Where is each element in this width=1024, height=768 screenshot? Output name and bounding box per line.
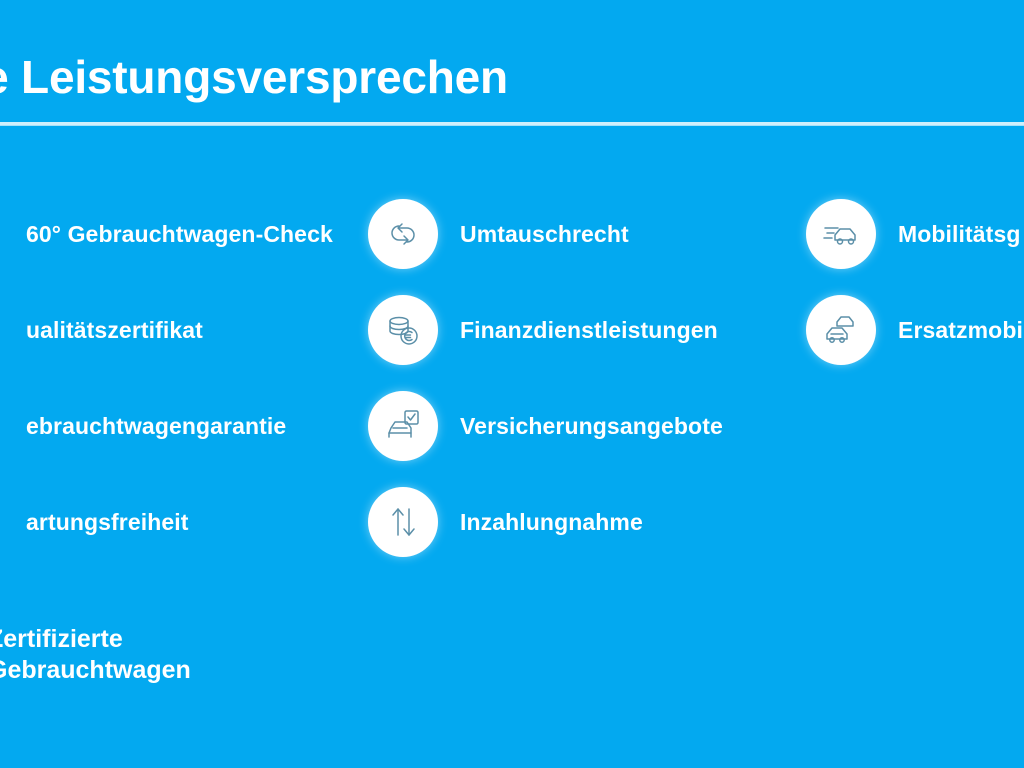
feature-columns: 60° Gebrauchtwagen-Check ualitätszertifi… [0,186,1024,606]
feature-item[interactable]: Inzahlungnahme [368,474,768,570]
feature-item[interactable]: Ersatzmobi [806,282,1024,378]
feature-label: ebrauchtwagengarantie [26,413,286,440]
car-checklist-icon [368,391,438,461]
column-middle: Umtauschrecht Finanzdienstleistungen [368,186,768,570]
feature-label: Finanzdienstleistungen [460,317,718,344]
up-down-arrows-icon [368,487,438,557]
header: ere Leistungsversprechen [0,46,1024,116]
slide-root: ere Leistungsversprechen 60° Gebrauchtwa… [0,0,1024,768]
car-speed-icon [806,199,876,269]
page-title: ere Leistungsversprechen [0,46,508,108]
feature-item[interactable]: 60° Gebrauchtwagen-Check [0,186,354,282]
feature-label: Mobilitätsg [898,221,1020,248]
feature-label: 60° Gebrauchtwagen-Check [26,221,333,248]
two-cars-icon [806,295,876,365]
feature-item[interactable]: Mobilitätsg [806,186,1024,282]
feature-label: Inzahlungnahme [460,509,643,536]
certification-block: Zertifizierte Gebrauchtwagen [0,624,388,686]
feature-label: Ersatzmobi [898,317,1023,344]
feature-item[interactable]: ebrauchtwagengarantie [0,378,354,474]
coins-euro-icon [368,295,438,365]
exchange-arrows-icon [368,199,438,269]
certification-line-1: Zertifizierte [0,624,388,655]
feature-item[interactable]: artungsfreiheit [0,474,354,570]
feature-label: Versicherungsangebote [460,413,723,440]
feature-item[interactable]: ualitätszertifikat [0,282,354,378]
column-left: 60° Gebrauchtwagen-Check ualitätszertifi… [0,186,354,570]
certification-line-2: Gebrauchtwagen [0,655,388,686]
feature-label: ualitätszertifikat [26,317,203,344]
feature-label: artungsfreiheit [26,509,189,536]
feature-label: Umtauschrecht [460,221,629,248]
feature-item[interactable]: Umtauschrecht [368,186,768,282]
header-divider [0,122,1024,125]
feature-item[interactable]: Finanzdienstleistungen [368,282,768,378]
column-right: Mobilitätsg Ersatzmobi [806,186,1024,378]
feature-item[interactable]: Versicherungsangebote [368,378,768,474]
